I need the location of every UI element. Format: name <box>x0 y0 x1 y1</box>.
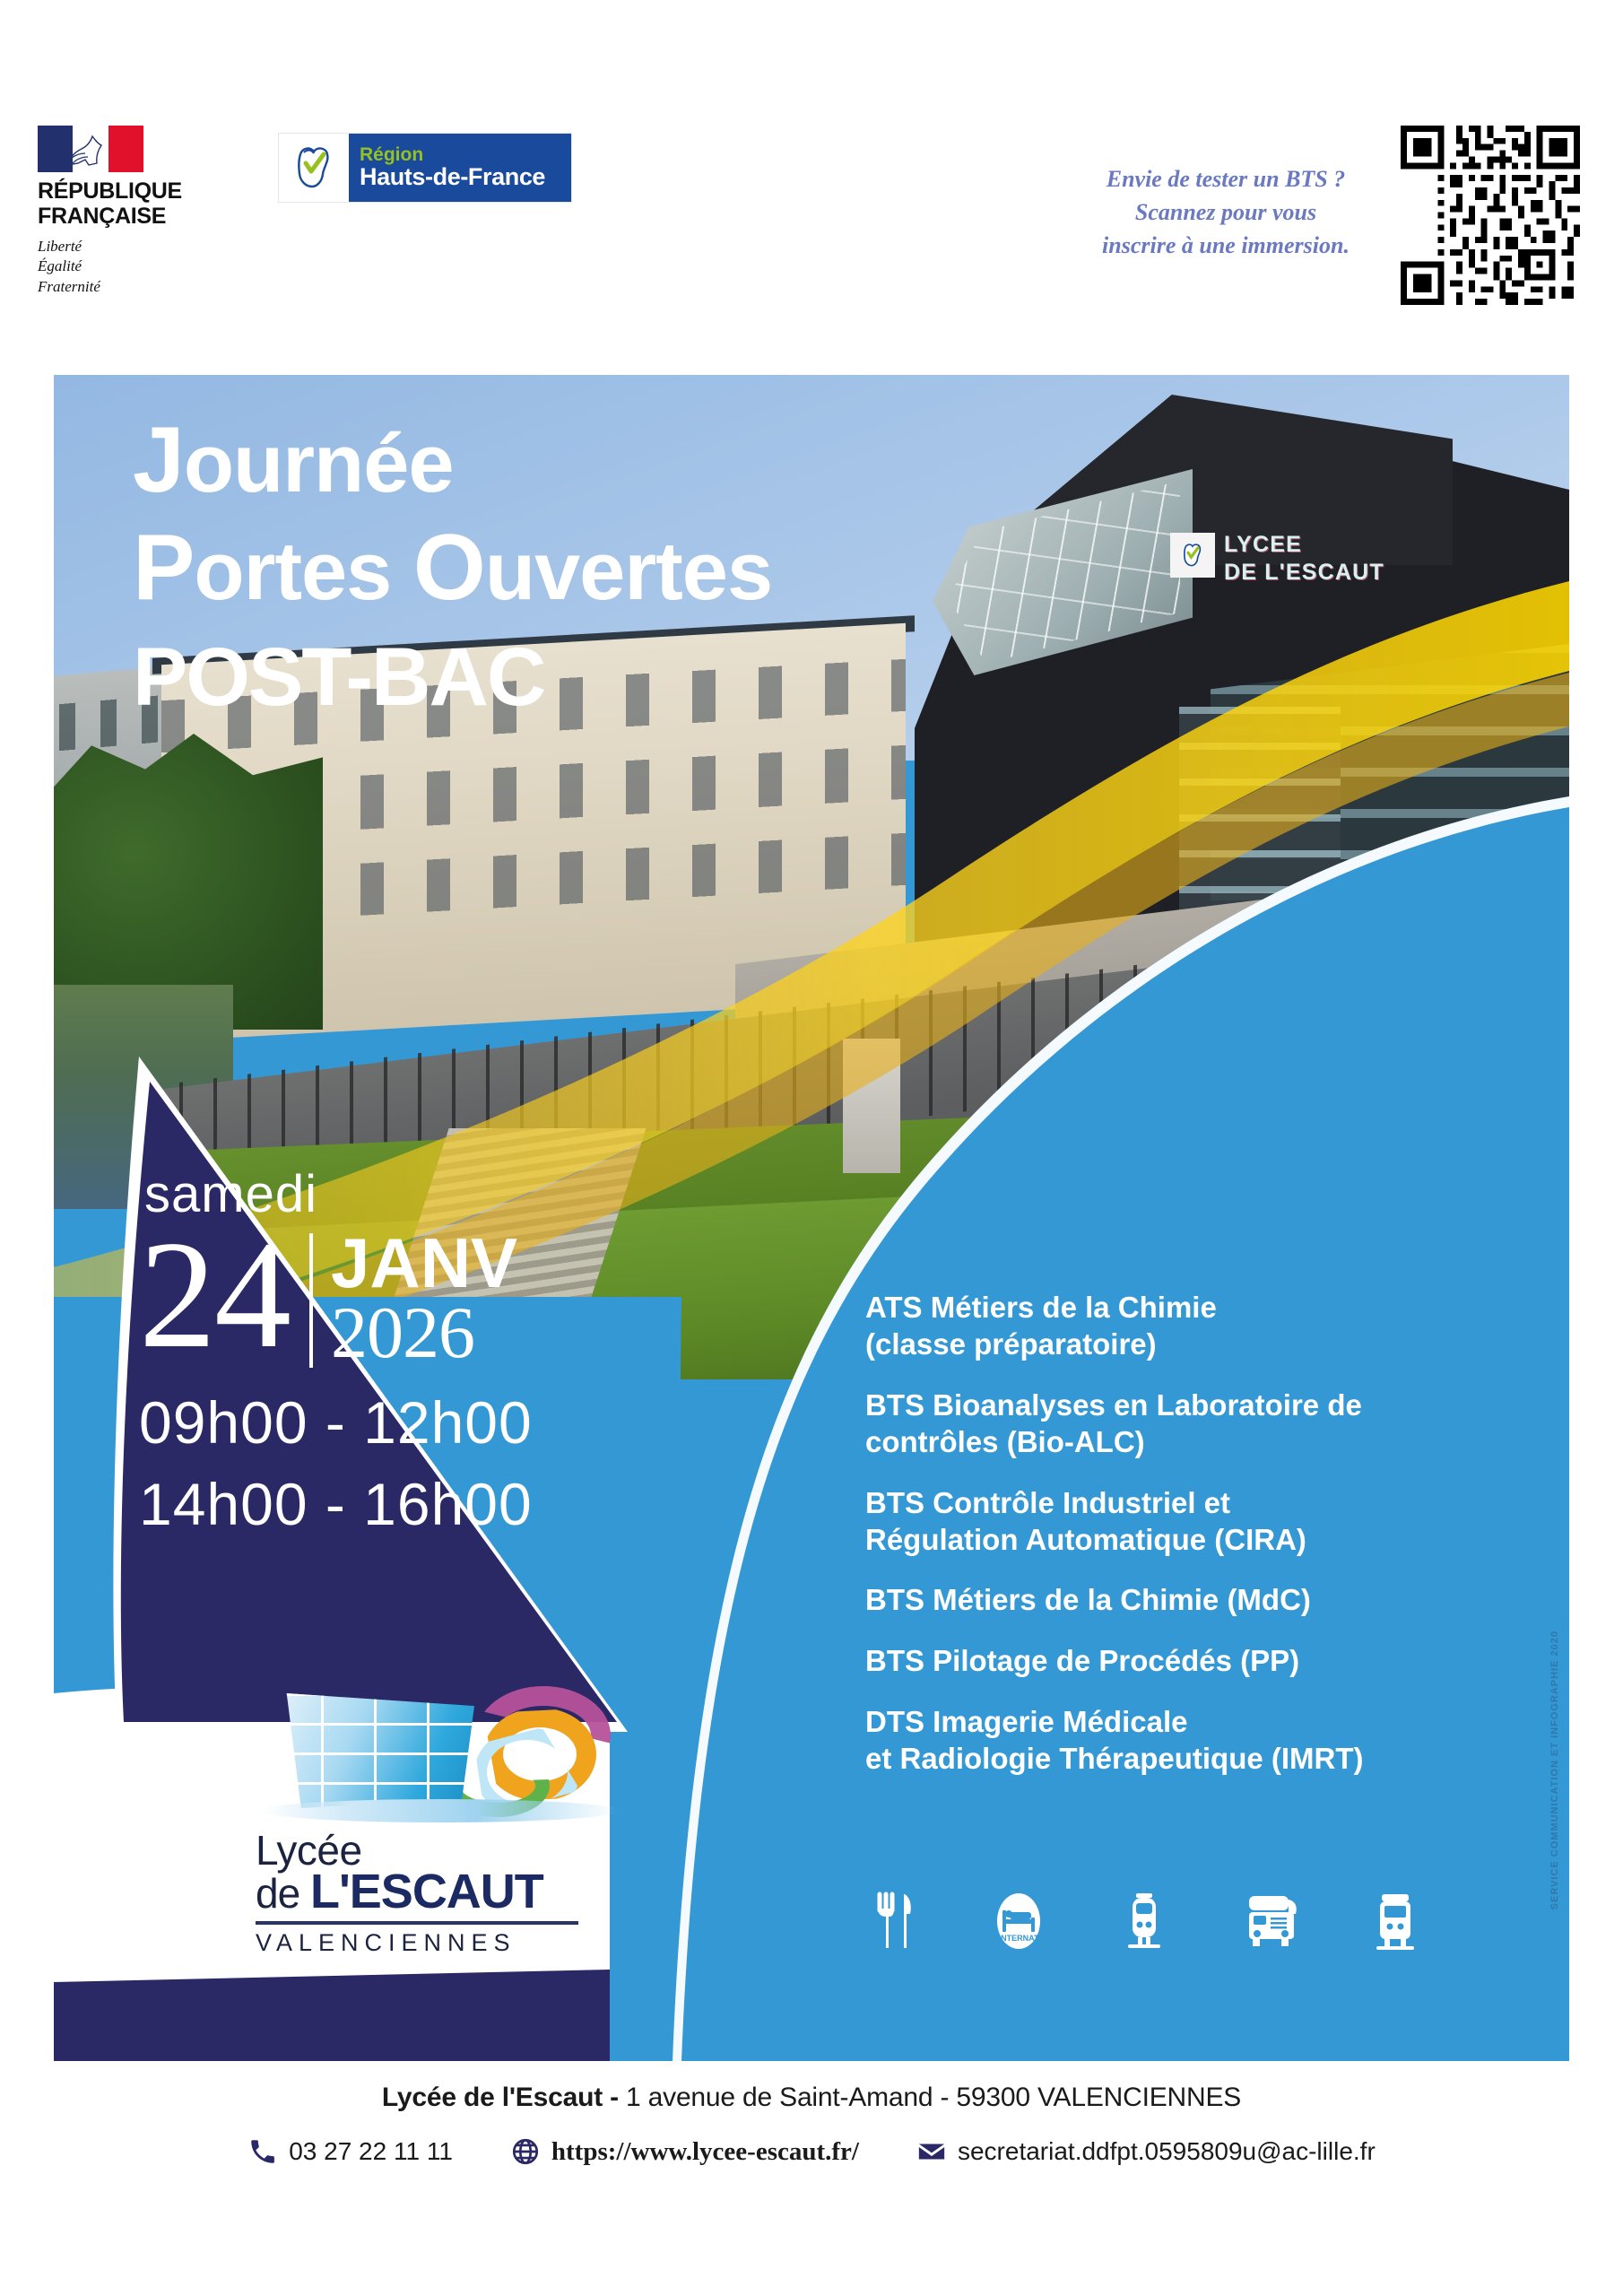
event-month: JANV <box>331 1231 517 1296</box>
train-icon <box>1367 1891 1423 1952</box>
event-day: 24 <box>139 1226 290 1365</box>
region-label: Région <box>360 145 571 164</box>
phone-contact[interactable]: 03 27 22 11 11 <box>247 2136 453 2167</box>
school-logo-city: VALENCIENNES <box>256 1929 632 1957</box>
amenities-row: INTERNAT <box>865 1891 1493 1952</box>
website-url: https://www.lycee-escaut.fr/ <box>551 2137 859 2167</box>
school-address-line: Lycée de l'Escaut - 1 avenue de Saint-Am… <box>0 2083 1623 2113</box>
phone-icon <box>247 2136 278 2167</box>
region-name: Hauts-de-France <box>360 164 571 189</box>
event-hours-morning: 09h00 - 12h00 <box>139 1382 695 1464</box>
page-header: RÉPUBLIQUE FRANÇAISE Liberté Égalité Fra… <box>0 0 1623 359</box>
republique-francaise-logo: RÉPUBLIQUE FRANÇAISE Liberté Égalité Fra… <box>38 126 262 297</box>
boarding-icon-label: INTERNAT <box>999 1934 1039 1943</box>
motto-egalite: Égalité <box>38 257 262 276</box>
footer-address: 1 avenue de Saint-Amand - 59300 VALENCIE… <box>626 2083 1241 2112</box>
qr-prompt-line2: Scannez pour vous <box>1060 196 1392 230</box>
event-hours-afternoon: 14h00 - 16h00 <box>139 1464 695 1545</box>
boarding-icon: INTERNAT <box>991 1891 1046 1952</box>
marianne-title-line1: RÉPUBLIQUE <box>38 178 262 204</box>
event-hours: 09h00 - 12h00 14h00 - 16h00 <box>139 1382 695 1545</box>
footer-school-name: Lycée de l'Escaut - <box>382 2083 626 2112</box>
program-item: BTS Métiers de la Chimie (MdC) <box>865 1582 1511 1619</box>
program-item: DTS Imagerie Médicaleet Radiologie Théra… <box>865 1704 1511 1778</box>
page-footer: Lycée de l'Escaut - 1 avenue de Saint-Am… <box>0 2063 1623 2296</box>
region-map-icon <box>279 134 349 202</box>
marianne-title: RÉPUBLIQUE FRANÇAISE <box>38 178 262 229</box>
school-logo-mark <box>261 1684 620 1828</box>
program-item: ATS Métiers de la Chimie(classe préparat… <box>865 1290 1511 1363</box>
bus-icon <box>1242 1891 1298 1952</box>
website-contact[interactable]: https://www.lycee-escaut.fr/ <box>510 2136 859 2167</box>
school-logo: Lycée de L'ESCAUT VALENCIENNES <box>256 1684 632 1957</box>
program-item: BTS Contrôle Industriel etRégulation Aut… <box>865 1485 1511 1559</box>
region-hauts-de-france-logo: Région Hauts-de-France <box>278 133 572 203</box>
program-item: BTS Pilotage de Procédés (PP) <box>865 1643 1511 1680</box>
motto-liberte: Liberté <box>38 237 262 257</box>
building-sign-line2: DE L'ESCAUT <box>1224 559 1384 587</box>
phone-number: 03 27 22 11 11 <box>289 2137 453 2166</box>
event-date-row: 24 JANV 2026 <box>139 1226 695 1370</box>
globe-icon <box>510 2136 541 2167</box>
motto-fraternite: Fraternité <box>38 277 262 297</box>
school-logo-de: de <box>256 1870 310 1917</box>
marianne-motto: Liberté Égalité Fraternité <box>38 237 262 297</box>
tram-icon <box>1116 1891 1172 1952</box>
qr-prompt-line1: Envie de tester un BTS ? <box>1060 163 1392 196</box>
program-item: BTS Bioanalyses en Laboratoire decontrôl… <box>865 1387 1511 1461</box>
envelope-icon <box>916 2136 947 2167</box>
restaurant-icon <box>865 1891 921 1952</box>
qr-code[interactable] <box>1401 126 1580 305</box>
footer-contacts: 03 27 22 11 11 https://www.lycee-escaut.… <box>0 2136 1623 2167</box>
qr-prompt-line3: inscrire à une immersion. <box>1060 230 1392 263</box>
program-list: ATS Métiers de la Chimie(classe préparat… <box>865 1290 1511 1778</box>
school-logo-rule <box>256 1921 578 1925</box>
event-date-block: samedi 24 JANV 2026 09h00 - 12h00 14h00 … <box>139 1164 695 1545</box>
school-logo-escaut: de L'ESCAUT <box>256 1867 632 1916</box>
marianne-title-line2: FRANÇAISE <box>38 204 262 229</box>
building-sign: LYCEE DE L'ESCAUT <box>1170 529 1439 596</box>
region-chip-icon <box>1170 533 1215 578</box>
design-credit: SERVICE COMMUNICATION ET INFOGRAPHIE 202… <box>1549 1631 1560 1909</box>
event-year: 2026 <box>331 1296 517 1370</box>
email-address: secretariat.ddfpt.0595809u@ac-lille.fr <box>958 2137 1376 2166</box>
french-flag-icon <box>38 126 143 172</box>
qr-prompt-text: Envie de tester un BTS ? Scannez pour vo… <box>1060 163 1392 263</box>
poster-body: LYCEE DE L'ESCAUT <box>54 375 1569 2061</box>
email-contact[interactable]: secretariat.ddfpt.0595809u@ac-lille.fr <box>916 2136 1376 2167</box>
building-sign-line1: LYCEE <box>1224 531 1384 559</box>
school-logo-name: L'ESCAUT <box>310 1865 543 1918</box>
marianne-profile-icon <box>73 129 108 170</box>
date-divider <box>309 1233 313 1368</box>
